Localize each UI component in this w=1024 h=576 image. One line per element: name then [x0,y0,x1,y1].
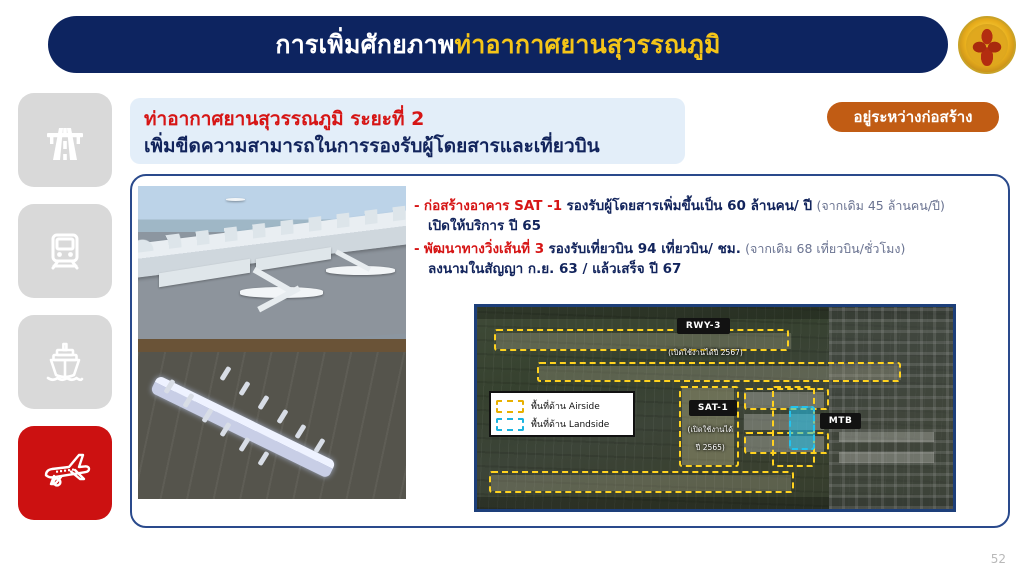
sidebar-item-ship[interactable] [18,315,112,409]
map-legend: พื้นที่ด้าน Airside พื้นที่ด้าน Landside [489,391,635,437]
slide-root: การเพิ่มศักยภาพท่าอากาศยานสุวรรณภูมิ [0,0,1024,576]
landside-swatch-icon [496,418,524,431]
map-cargo-block [839,452,934,462]
bullet-2-highlight: พัฒนาทางวิ่งเส้นที่ 3 [424,241,544,257]
map-label-sat1: SAT-1 [689,400,738,416]
subtitle-box: ท่าอากาศยานสุวรรณภูมิ ระยะที่ 2 เพิ่มขีด… [130,98,685,164]
bullet-1-sub: เปิดให้บริการ ปี 65 [414,216,1010,236]
bullet-2-main: รองรับเที่ยวบิน 94 เที่ยวบิน/ ชม. [548,241,740,257]
bullet-1-marker: - [414,198,420,214]
subtitle-line-1: ท่าอากาศยานสุวรรณภูมิ ระยะที่ 2 [144,106,685,132]
page-title-accent: ท่าอากาศยานสุวรรณภูมิ [455,30,721,59]
seal-glyph [966,24,1008,66]
map-airside-zone-taxiway [537,362,901,382]
masterplan-map-frame: RWY-3 (เปิดใช้งานได้ปี 2567) SAT-1 (เปิด… [474,304,956,512]
sidebar-item-train[interactable] [18,204,112,298]
bullet-item-1: - ก่อสร้างอาคาร SAT -1 รองรับผู้โดยสารเพ… [414,196,1010,236]
map-cargo-block [839,432,934,442]
title-bar: การเพิ่มศักยภาพท่าอากาศยานสุวรรณภูมิ [48,16,948,73]
bullet-1-main-line: - ก่อสร้างอาคาร SAT -1 รองรับผู้โดยสารเพ… [414,196,1010,216]
bullet-2-sub: ลงนามในสัญญา ก.ย. 63 / แล้วเสร็จ ปี 67 [414,259,1010,279]
ship-icon [39,336,91,388]
masterplan-map: RWY-3 (เปิดใช้งานได้ปี 2567) SAT-1 (เปิด… [477,307,953,509]
photo-aircraft-distant [226,198,245,201]
airport-photo [138,186,406,499]
map-note-sat1-line2: ปี 2565) [672,442,748,454]
page-title-primary: การเพิ่มศักยภาพ [275,30,454,59]
legend-row-airside: พื้นที่ด้าน Airside [496,397,628,415]
map-label-mtb: MTB [820,413,862,429]
map-urban-area [829,307,953,509]
legend-label-landside: พื้นที่ด้าน Landside [531,417,609,431]
photo-aerial-concourse-view [138,339,406,499]
sidebar-item-highway[interactable] [18,93,112,187]
bullet-list: - ก่อสร้างอาคาร SAT -1 รองรับผู้โดยสารเพ… [414,196,1010,282]
photo-aerial-apron [138,352,406,499]
page-number: 52 [991,552,1006,566]
map-note-rwy3: (เปิดใช้งานได้ปี 2567) [648,347,762,359]
airside-swatch-icon [496,400,524,413]
photo-terminal-view [138,186,406,339]
bullet-1-highlight: ก่อสร้างอาคาร SAT -1 [424,198,562,214]
train-icon [39,225,91,277]
bullet-2-note: (จากเดิม 68 เที่ยวบิน/ชั่วโมง) [745,241,905,256]
bullet-2-marker: - [414,241,420,257]
bullet-2-main-line: - พัฒนาทางวิ่งเส้นที่ 3 รองรับเที่ยวบิน … [414,239,1010,259]
legend-label-airside: พื้นที่ด้าน Airside [531,399,600,413]
map-label-rwy3: RWY-3 [677,318,730,334]
map-landside-zone-mtb [789,406,815,450]
highway-icon [39,114,91,166]
subtitle-line-2: เพิ่มขีดความสามารถในการรองรับผู้โดยสารแล… [144,132,685,160]
map-note-sat1-line1: (เปิดใช้งานได้ [672,424,748,436]
page-title: การเพิ่มศักยภาพท่าอากาศยานสุวรรณภูมิ [275,32,720,57]
bullet-1-main: รองรับผู้โดยสารเพิ่มขึ้นเป็น 60 ล้านคน/ … [566,198,812,214]
status-badge: อยู่ระหว่างก่อสร้าง [827,102,999,132]
sidebar-item-airplane[interactable] [18,426,112,520]
bullet-item-2: - พัฒนาทางวิ่งเส้นที่ 3 รองรับเที่ยวบิน … [414,239,1010,279]
map-airside-zone-rwy-south [489,471,794,493]
legend-row-landside: พื้นที่ด้าน Landside [496,415,628,433]
thai-government-seal-icon [958,16,1016,74]
airplane-icon [37,445,93,501]
bullet-1-note: (จากเดิม 45 ล้านคน/ปี) [816,198,944,213]
